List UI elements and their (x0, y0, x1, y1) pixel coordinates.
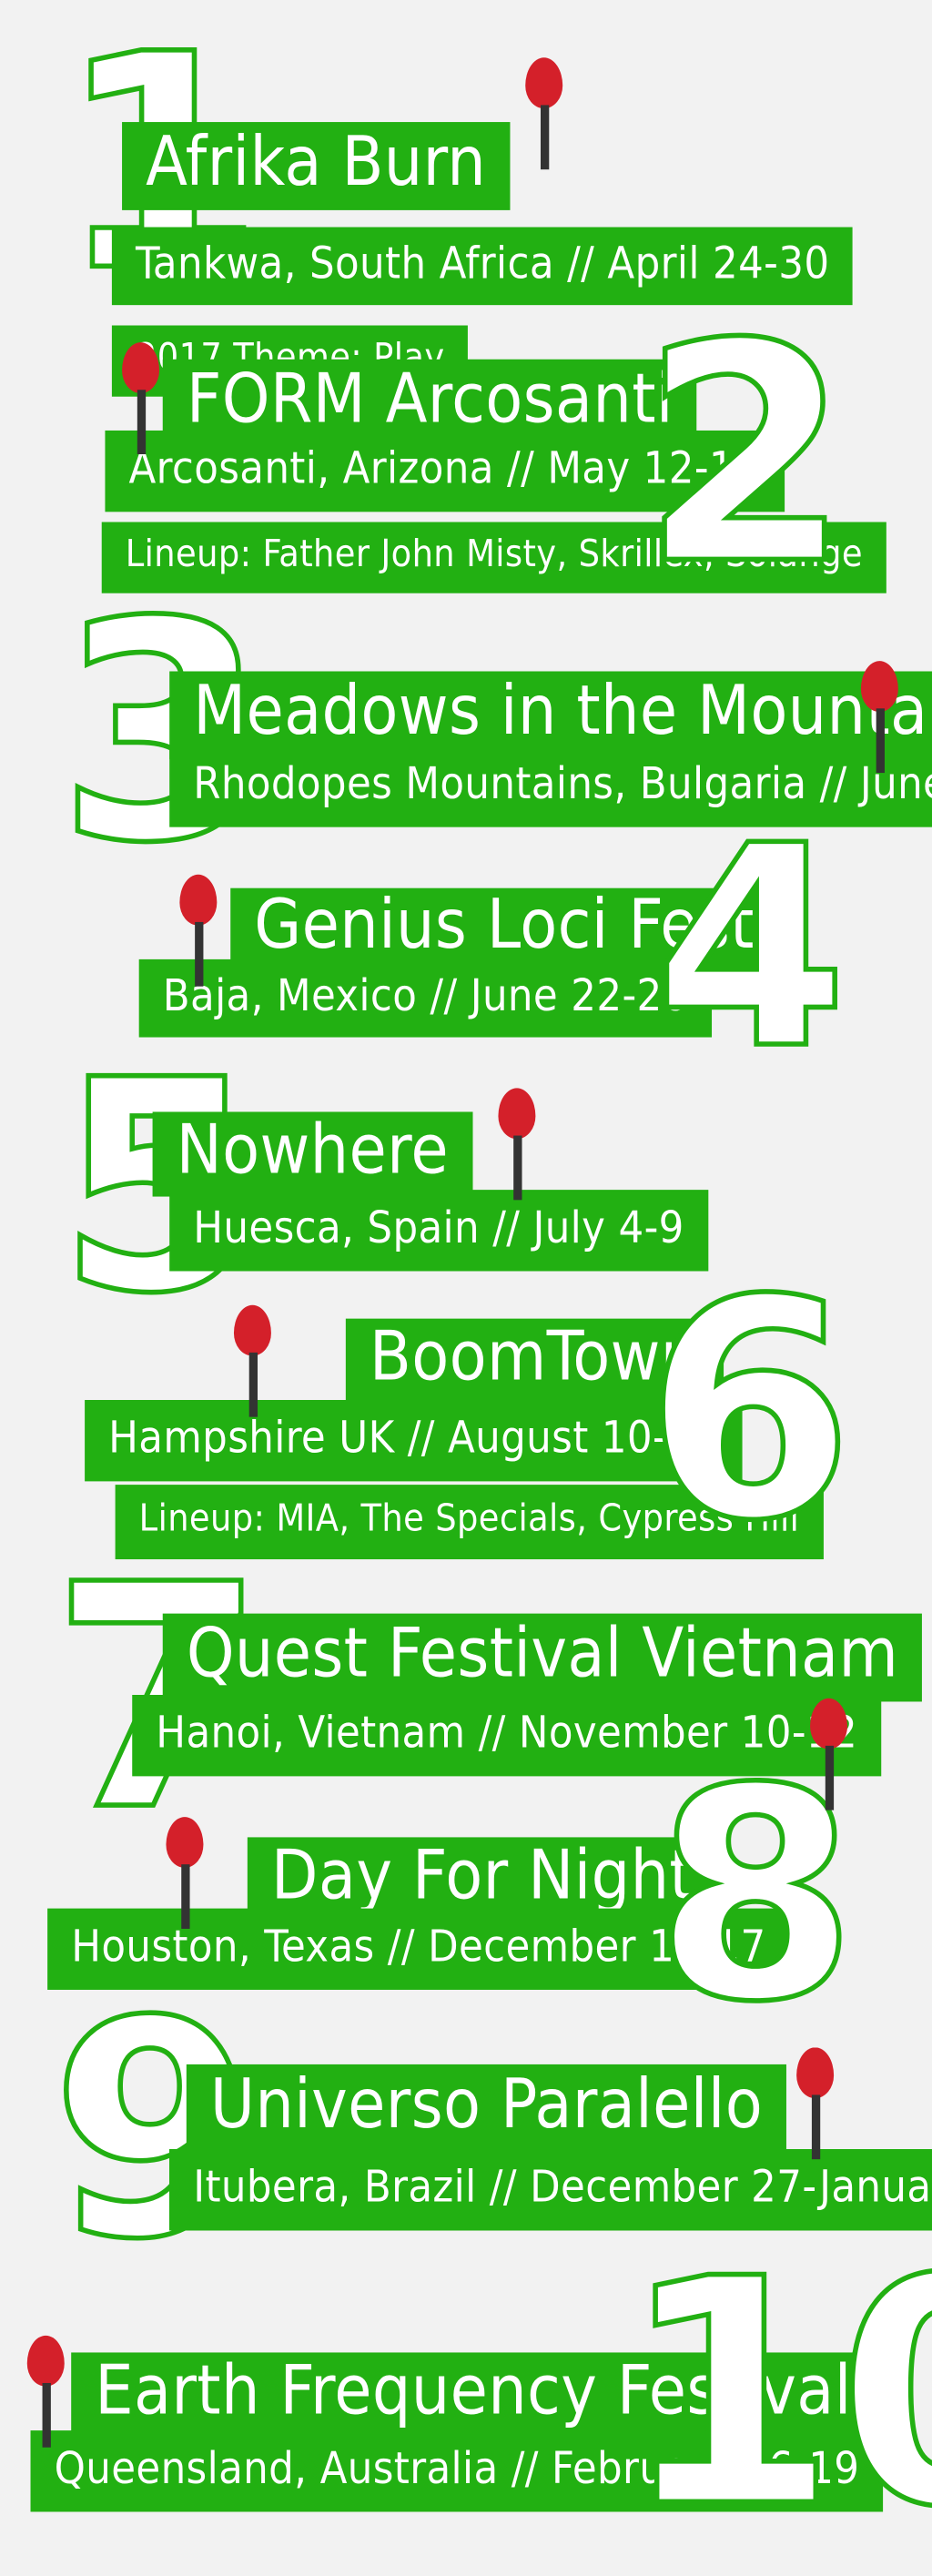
festival-title-1: Afrika Burn (122, 122, 510, 210)
festival-location-date-4: Baja, Mexico // June 22-26 (139, 959, 712, 1038)
festival-title-9: Universo Paralello (187, 2064, 786, 2153)
festival-title-5: Nowhere (153, 1111, 473, 1196)
rank-number-10: 10 (620, 2271, 932, 2520)
pin-head (796, 2047, 834, 2098)
map-pin-icon-6 (234, 1305, 271, 1417)
pin-stem (512, 1136, 521, 1201)
map-pin-icon-5 (498, 1088, 535, 1200)
pin-stem (248, 1353, 257, 1417)
pin-stem (540, 105, 548, 169)
pin-head (498, 1088, 535, 1139)
pin-head (27, 2336, 65, 2387)
pin-head (166, 1817, 203, 1868)
map-pin-icon-9 (796, 2047, 834, 2159)
pin-stem (876, 708, 884, 773)
rank-number-4: 4 (654, 837, 848, 1060)
map-pin-icon-10 (27, 2336, 65, 2448)
pin-stem (42, 2383, 50, 2448)
pin-head (122, 342, 159, 393)
festival-title-7: Quest Festival Vietnam (163, 1614, 922, 1702)
map-pin-icon-8 (166, 1817, 203, 1929)
rank-number-8: 8 (654, 1780, 857, 2013)
pin-stem (137, 390, 145, 454)
map-pin-icon-3 (861, 661, 898, 773)
pin-stem (811, 2094, 819, 2159)
pin-head (861, 661, 898, 712)
pin-head (179, 875, 217, 926)
infographic-canvas: 1 Afrika Burn Tankwa, South Africa // Ap… (0, 0, 932, 2542)
map-pin-icon-7 (810, 1699, 847, 1810)
pin-stem (180, 1864, 188, 1929)
pin-stem (194, 922, 202, 987)
festival-location-date-5: Huesca, Spain // July 4-9 (169, 1190, 708, 1271)
map-pin-icon-1 (525, 57, 562, 169)
map-pin-icon-2 (122, 342, 159, 454)
rank-number-2: 2 (641, 336, 851, 577)
pin-stem (825, 1746, 833, 1810)
pin-head (525, 57, 562, 108)
pin-head (234, 1305, 271, 1356)
map-pin-icon-4 (179, 875, 217, 987)
pin-head (810, 1699, 847, 1749)
rank-number-6: 6 (644, 1292, 855, 1533)
